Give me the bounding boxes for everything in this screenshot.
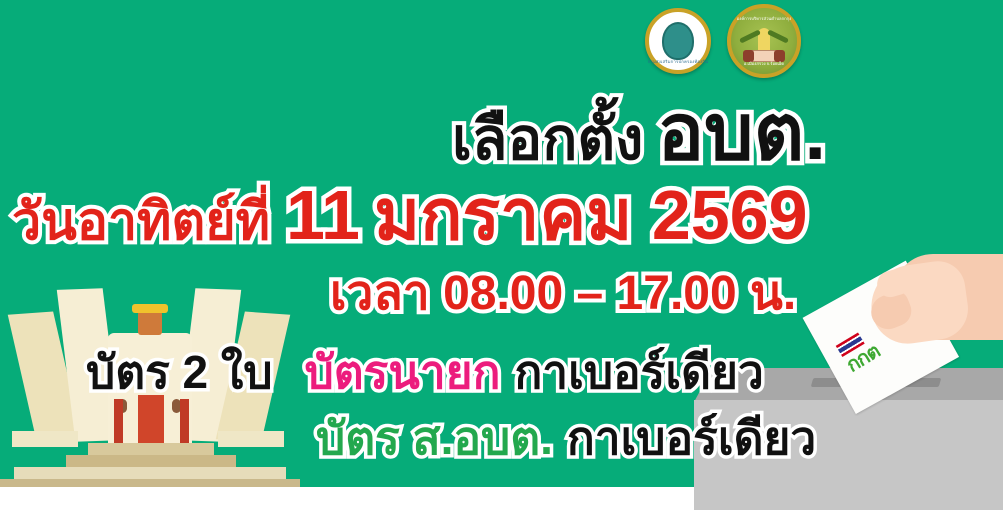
monument-wing-base-left: [12, 431, 78, 447]
sao-seal-icon: องค์การบริหารส่วนตำบลกกกุง อ.เมืองสรวง จ…: [727, 4, 801, 78]
seal-ring-text-top: องค์การบริหารส่วนตำบลกกกุง: [737, 15, 791, 22]
ballot-line-council: บัตร ส.อบต.กาเบอร์เดียว: [316, 415, 816, 462]
election-commission-mark: กกต: [836, 328, 883, 376]
monument-door: [138, 395, 164, 445]
monument-wing-base-right: [218, 431, 284, 447]
election-time-line: เวลา 08.00 – 17.00 น.: [330, 270, 796, 318]
department-of-local-administration-seal-icon: กรมส่งเสริมการปกครองท้องถิ่น: [645, 8, 711, 74]
election-date-line: วันอาทิตย์ที่11มกราคม 2569: [12, 180, 808, 250]
headline-lead: เลือกตั้ง: [452, 107, 643, 172]
monument-pillar-left: [114, 399, 123, 443]
ballot-line-mayor: บัตร 2 ใบบัตรนายกกาเบอร์เดียว: [86, 349, 764, 396]
date-day-word: วันอาทิตย์ที่: [12, 193, 270, 251]
ballot-count-label: บัตร 2 ใบ: [86, 346, 273, 398]
seal-device: [662, 22, 694, 60]
monument-ground: [0, 479, 300, 487]
monument-tower-cap: [132, 304, 168, 313]
council-ballot-instruction: กาเบอร์เดียว: [567, 412, 816, 464]
date-day-number: 11: [286, 176, 360, 254]
election-poster: กกต กรมส่งเสริมการปกครองท้องถิ่น: [0, 0, 1003, 510]
seal-branch-right: [767, 29, 789, 43]
mayor-ballot-label: บัตรนายก: [305, 346, 501, 398]
hand-with-ballot-illustration: กกต: [815, 250, 1003, 400]
organization-emblems: กรมส่งเสริมการปกครองท้องถิ่น องค์การบริห…: [645, 4, 805, 80]
date-month-year: มกราคม 2569: [374, 176, 808, 254]
headline-main: อบต.: [657, 88, 826, 176]
poster-headline: เลือกตั้งอบต.: [452, 93, 826, 171]
seal-ring-text-bottom: อ.เมืองสรวง จ.ร้อยเอ็ด: [744, 60, 784, 67]
monument-pillar-right: [180, 399, 189, 443]
council-ballot-label: บัตร ส.อบต.: [316, 412, 553, 464]
mayor-ballot-instruction: กาเบอร์เดียว: [514, 346, 763, 398]
monument-tower-finial: [138, 311, 162, 335]
seal-ring-text: กรมส่งเสริมการปกครองท้องถิ่น: [648, 58, 708, 65]
